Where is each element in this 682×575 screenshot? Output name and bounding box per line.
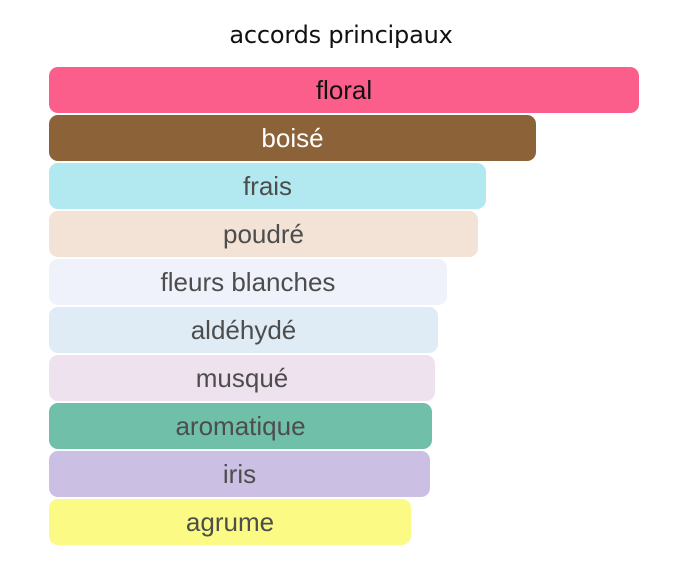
bar-row[interactable]: fleurs blanches <box>49 259 447 305</box>
bar-row[interactable]: aromatique <box>49 403 432 449</box>
bar-row[interactable]: iris <box>49 451 430 497</box>
bar-row[interactable]: frais <box>49 163 486 209</box>
bar-fill[interactable] <box>49 355 435 401</box>
bar-list: floralboiséfraispoudréfleurs blanchesald… <box>0 67 682 557</box>
bar-fill[interactable] <box>49 451 430 497</box>
bar-row[interactable]: floral <box>49 67 639 113</box>
bar-row[interactable]: boisé <box>49 115 536 161</box>
accords-principaux-chart: accords principaux floralboiséfraispoudr… <box>0 0 682 575</box>
bar-row[interactable]: musqué <box>49 355 435 401</box>
chart-title: accords principaux <box>0 20 682 50</box>
bar-fill[interactable] <box>49 211 478 257</box>
bar-fill[interactable] <box>49 307 438 353</box>
bar-fill[interactable] <box>49 115 536 161</box>
bar-row[interactable]: agrume <box>49 499 411 545</box>
bar-row[interactable]: poudré <box>49 211 478 257</box>
bar-fill[interactable] <box>49 499 411 545</box>
bar-fill[interactable] <box>49 67 639 113</box>
bar-row[interactable]: aldéhydé <box>49 307 438 353</box>
bar-fill[interactable] <box>49 259 447 305</box>
bar-fill[interactable] <box>49 163 486 209</box>
bar-fill[interactable] <box>49 403 432 449</box>
